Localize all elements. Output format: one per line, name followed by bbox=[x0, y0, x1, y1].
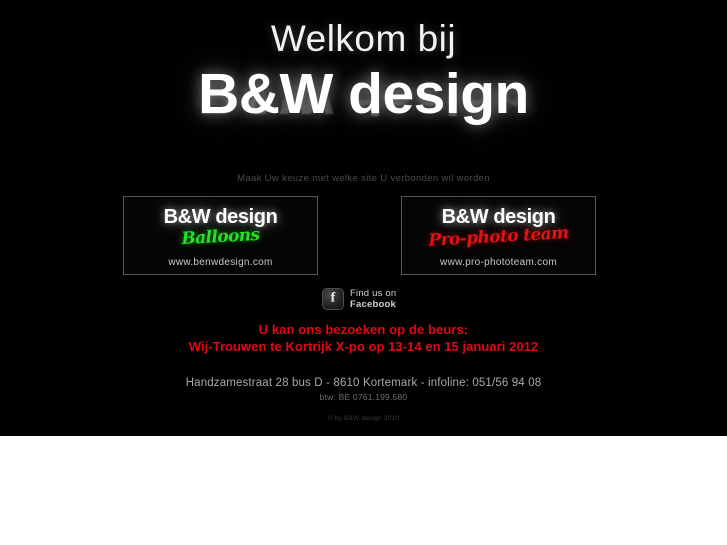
instruction-text: Maak Uw keuze met welke site U verbonden… bbox=[0, 173, 727, 184]
footer-copyright: © by B&W design 2010 bbox=[0, 415, 727, 422]
facebook-label: Find us on Facebook bbox=[350, 288, 396, 310]
page-root: Welkom bij B&W design B&W design Maak Uw… bbox=[0, 0, 727, 545]
facebook-label-line2: Facebook bbox=[350, 299, 396, 310]
brand-reflection: B&W design bbox=[0, 75, 727, 123]
announcement-line2: Wij-Trouwen te Kortrijk X-po op 13-14 en… bbox=[0, 339, 727, 356]
facebook-label-line1: Find us on bbox=[350, 288, 396, 299]
banner-balloons[interactable]: B&W design Balloons www.benwdesign.com bbox=[123, 196, 318, 275]
footer-address: Handzamestraat 28 bus D - 8610 Kortemark… bbox=[0, 377, 727, 389]
black-stage: Welkom bij B&W design B&W design Maak Uw… bbox=[0, 0, 727, 436]
header: Welkom bij B&W design B&W design bbox=[0, 0, 727, 165]
facebook-icon-letter: f bbox=[323, 292, 343, 306]
announcement: U kan ons bezoeken op de beurs: Wij-Trou… bbox=[0, 322, 727, 355]
welcome-line: Welkom bij bbox=[0, 0, 727, 61]
facebook-badge[interactable]: f Find us on Facebook bbox=[322, 286, 406, 312]
banner-pro-phototeam[interactable]: B&W design Pro-photo team www.pro-photot… bbox=[401, 196, 596, 275]
announcement-line1: U kan ons bezoeken op de beurs: bbox=[0, 322, 727, 339]
brand-lockup: B&W design B&W design bbox=[0, 65, 727, 165]
site-choice-banners: B&W design Balloons www.benwdesign.com B… bbox=[123, 196, 596, 275]
footer-vat: btw: BE 0761.199.580 bbox=[0, 392, 727, 402]
facebook-icon: f bbox=[322, 288, 344, 310]
